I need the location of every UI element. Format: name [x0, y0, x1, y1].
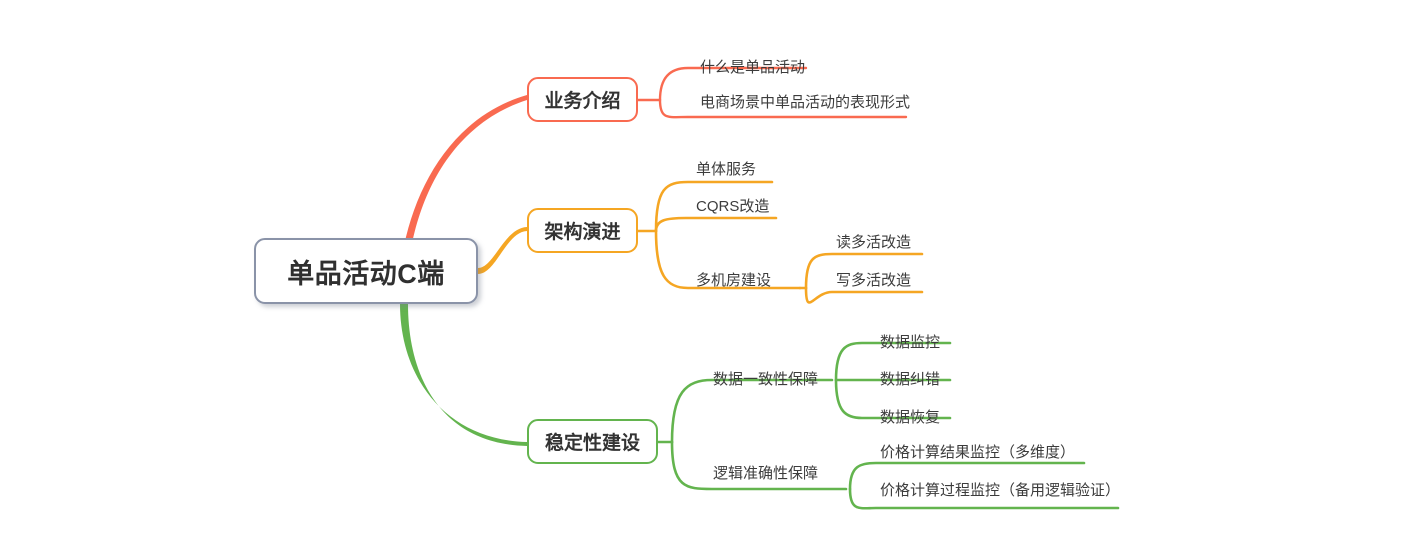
- leaf-what-is-single-item-activity[interactable]: 什么是单品活动: [700, 60, 805, 75]
- branch-node-label: 业务介绍: [544, 86, 620, 113]
- leaf-data-consistency-guarantee[interactable]: 数据一致性保障: [713, 372, 818, 387]
- branch-node-architecture-evolution[interactable]: 架构演进: [527, 208, 638, 253]
- leaf-price-calc-result-monitoring[interactable]: 价格计算结果监控（多维度）: [880, 445, 1075, 460]
- leaf-read-multi-active-refactor[interactable]: 读多活改造: [836, 235, 911, 250]
- edge-branch2-child0: [672, 380, 832, 442]
- edge-root-to-branch-2: [400, 304, 527, 446]
- edge-branch1-child1: [656, 218, 776, 231]
- mindmap-edges: [0, 0, 1408, 539]
- leaf-data-recovery[interactable]: 数据恢复: [880, 410, 940, 425]
- leaf-data-error-correction[interactable]: 数据纠错: [880, 372, 940, 387]
- leaf-monolith-service[interactable]: 单体服务: [696, 162, 756, 177]
- edge-branch1-child2-sub1: [806, 288, 922, 302]
- leaf-price-calc-process-monitoring[interactable]: 价格计算过程监控（备用逻辑验证）: [880, 483, 1120, 498]
- edge-root-to-branch-1: [478, 227, 527, 274]
- leaf-data-monitoring[interactable]: 数据监控: [880, 335, 940, 350]
- root-node[interactable]: 单品活动C端: [254, 238, 478, 304]
- mindmap-canvas: 单品活动C端 业务介绍 架构演进 稳定性建设 什么是单品活动 电商场景中单品活动…: [0, 0, 1408, 539]
- branch-node-business-intro[interactable]: 业务介绍: [527, 77, 638, 122]
- branch-node-stability-construction[interactable]: 稳定性建设: [527, 419, 658, 464]
- leaf-write-multi-active-refactor[interactable]: 写多活改造: [836, 273, 911, 288]
- leaf-logic-accuracy-guarantee[interactable]: 逻辑准确性保障: [713, 466, 818, 481]
- leaf-cqrs-refactor[interactable]: CQRS改造: [696, 199, 769, 214]
- branch-node-label: 架构演进: [544, 217, 620, 244]
- root-node-label: 单品活动C端: [287, 252, 445, 291]
- leaf-ecommerce-scenario-forms[interactable]: 电商场景中单品活动的表现形式: [700, 95, 910, 110]
- leaf-multi-datacenter-build[interactable]: 多机房建设: [696, 273, 771, 288]
- branch-node-label: 稳定性建设: [545, 428, 640, 455]
